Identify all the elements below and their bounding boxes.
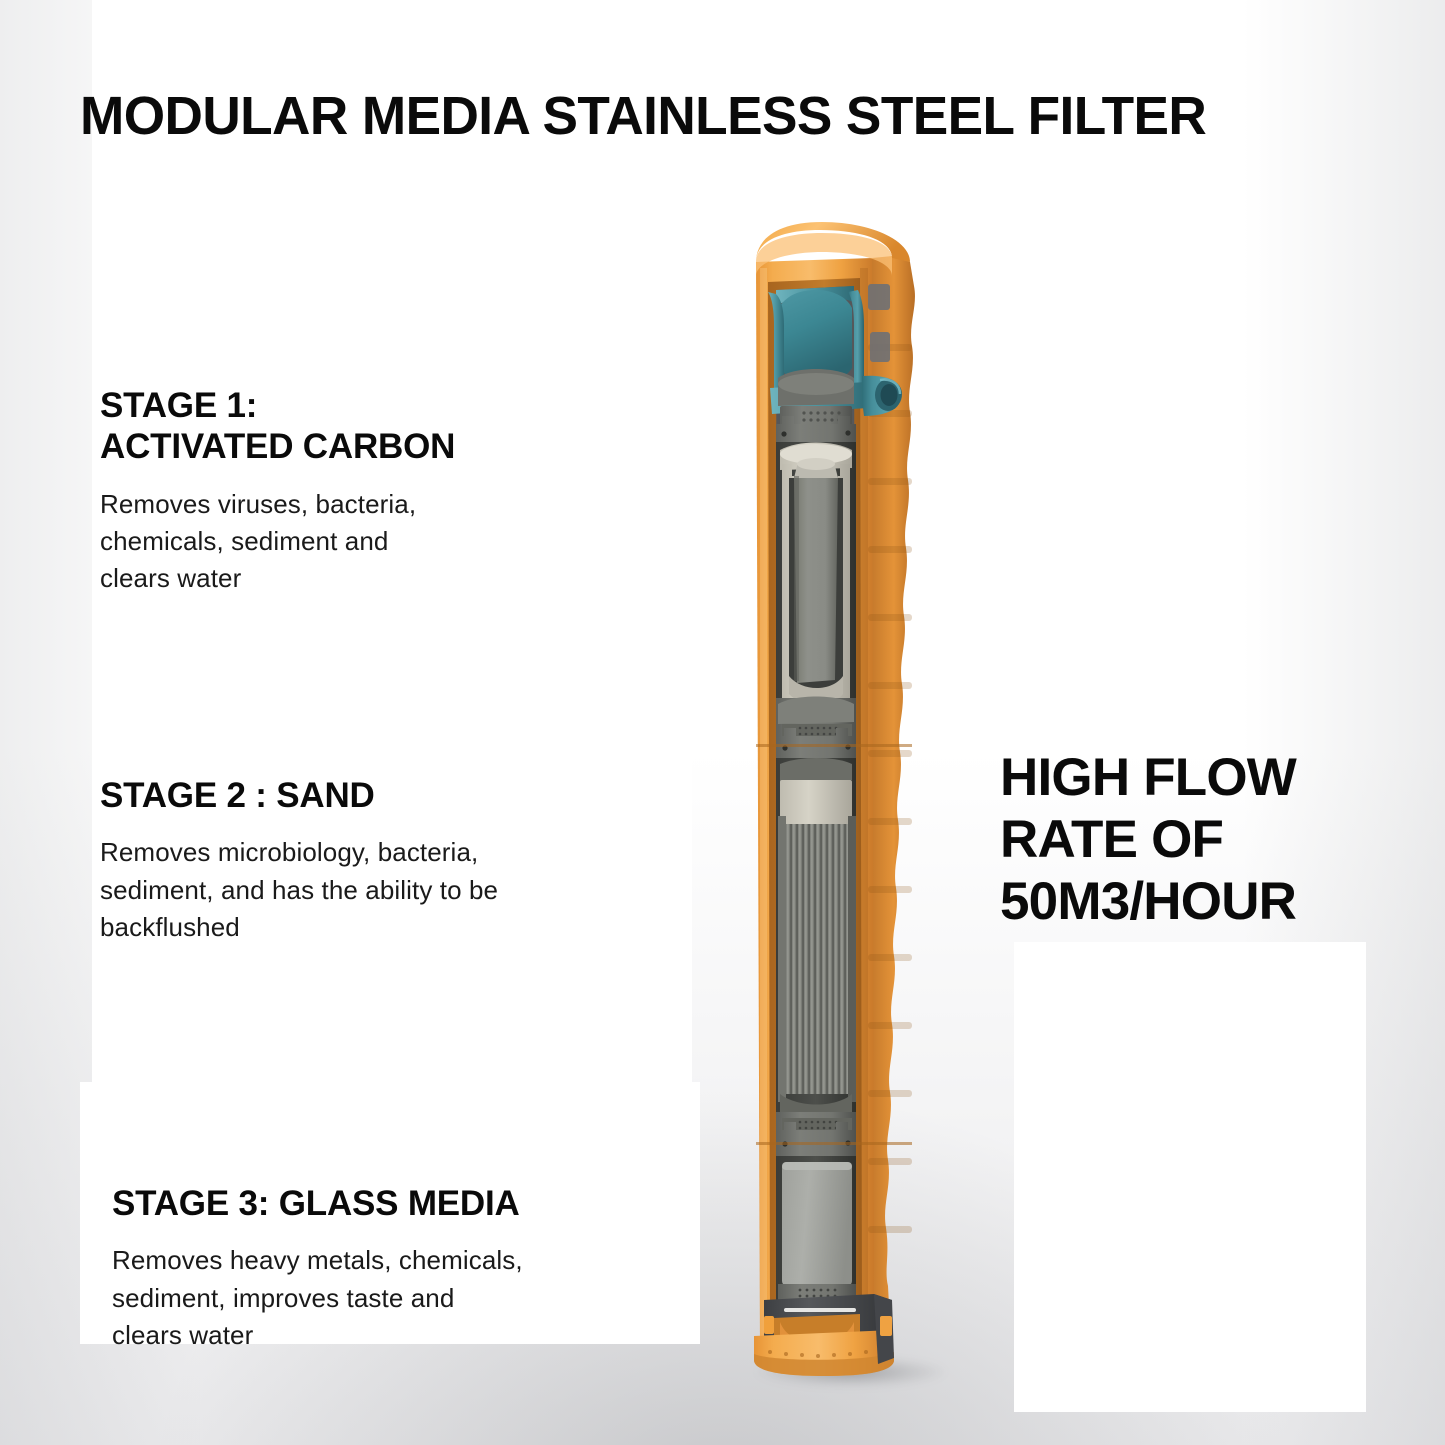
stage-3-chamber bbox=[776, 1156, 856, 1306]
manifold-bolt-right bbox=[845, 430, 850, 435]
stage-2-pleated-media bbox=[778, 816, 856, 1102]
stage-2-head-plate bbox=[780, 780, 852, 824]
base-slot-highlight bbox=[784, 1308, 856, 1312]
stage-3-block-highlight bbox=[782, 1162, 852, 1170]
stage-3-block: STAGE 3: GLASS MEDIA Removes heavy metal… bbox=[112, 1183, 682, 1355]
stage-1-description: Removes viruses, bacteria, chemicals, se… bbox=[100, 486, 660, 598]
module-seam-upper bbox=[756, 744, 912, 747]
infographic-page: MODULAR MEDIA STAINLESS STEEL FILTER STA… bbox=[0, 0, 1445, 1445]
stage-2-chamber bbox=[776, 758, 856, 1138]
module-seam-lower bbox=[756, 1142, 912, 1145]
base-bracket-tab bbox=[764, 1316, 774, 1334]
stage-3-description: Removes heavy metals, chemicals, sedimen… bbox=[112, 1242, 682, 1354]
stage-1-block: STAGE 1: ACTIVATED CARBON Removes viruse… bbox=[100, 385, 660, 598]
filter-unit-cutaway-image bbox=[742, 228, 952, 1373]
stage-1-heading: STAGE 1: ACTIVATED CARBON bbox=[100, 385, 660, 468]
cap-shadow-notch-a bbox=[868, 284, 890, 310]
stage-2-description: Removes microbiology, bacteria, sediment… bbox=[100, 834, 680, 946]
stage-2-top-wedge bbox=[780, 758, 852, 782]
white-panel-bottom-right bbox=[1014, 942, 1366, 1412]
base-plinth bbox=[754, 1294, 894, 1376]
stage-2-ribs bbox=[786, 824, 850, 1094]
mid-manifold-dome bbox=[778, 697, 854, 725]
page-title: MODULAR MEDIA STAINLESS STEEL FILTER bbox=[80, 88, 1370, 145]
manifold-dome-top bbox=[778, 373, 854, 395]
stage-2-block: STAGE 2 : SAND Removes microbiology, bac… bbox=[100, 775, 680, 947]
filter-cutaway-svg bbox=[742, 228, 952, 1373]
stage-1-media-shade bbox=[794, 476, 799, 681]
base-bracket-tab-right bbox=[880, 1316, 892, 1336]
stage-3-glass-media-block bbox=[782, 1162, 852, 1286]
stage-1-media-cap-top bbox=[797, 458, 835, 470]
manifold-bolt-left bbox=[781, 431, 786, 436]
stage-1-carbon-media bbox=[794, 476, 838, 683]
flow-rate-callout: HIGH FLOW RATE OF 50M3/HOUR bbox=[1000, 747, 1400, 933]
cap-shadow-notch-b bbox=[870, 332, 890, 362]
upper-manifold bbox=[776, 369, 856, 444]
housing-right-flank bbox=[868, 256, 915, 1356]
stage-3-heading: STAGE 3: GLASS MEDIA bbox=[112, 1183, 682, 1224]
stage-2-heading: STAGE 2 : SAND bbox=[100, 775, 680, 816]
stage-1-chamber bbox=[776, 442, 856, 722]
